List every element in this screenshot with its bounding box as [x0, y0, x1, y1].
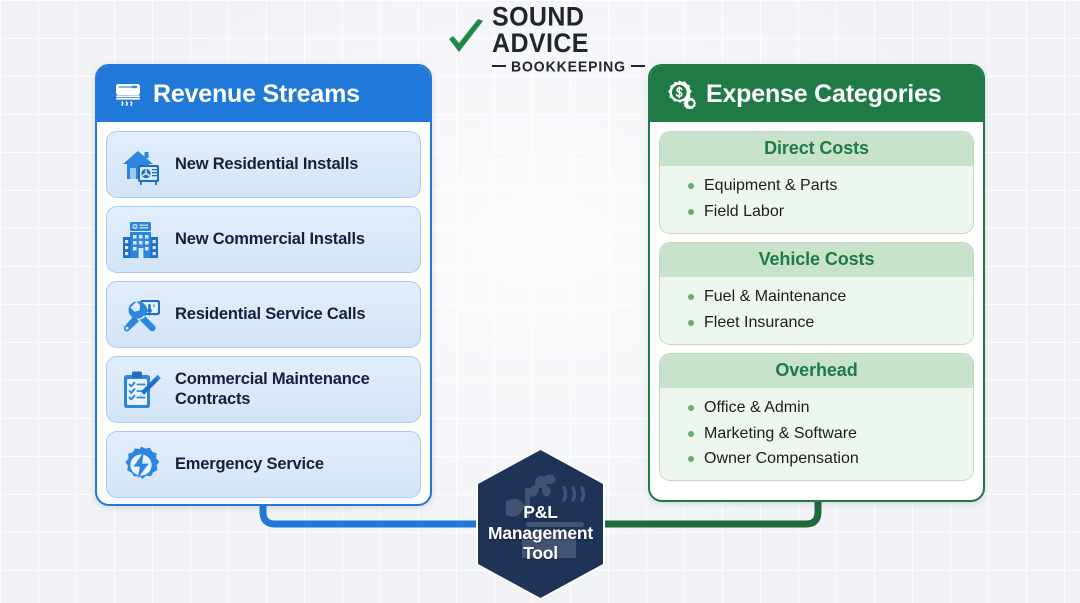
revenue-panel-body: New Residential Installs: [97, 122, 430, 506]
hexagon-label-line-2: Management: [488, 523, 593, 544]
expense-panel-body: Direct Costs Equipment & Parts Field Lab…: [650, 122, 983, 490]
revenue-item-label: Residential Service Calls: [175, 305, 365, 324]
expense-list-item: Owner Compensation: [688, 446, 973, 472]
expense-group-title: Overhead: [660, 354, 973, 388]
revenue-item-commercial-maintenance-contracts[interactable]: Commercial Maintenance Contracts: [106, 356, 421, 423]
hvac-ac-unit-icon: [113, 79, 143, 109]
expense-categories-panel: Expense Categories Direct Costs Equipmen…: [648, 64, 985, 502]
green-checkmark-icon: [447, 19, 485, 59]
revenue-streams-panel: Revenue Streams New Residential Installs: [95, 64, 432, 506]
revenue-item-label: New Commercial Installs: [175, 230, 365, 249]
expense-group-title: Vehicle Costs: [660, 243, 973, 277]
hexagon-label-line-3: Tool: [523, 543, 558, 564]
expense-panel-title: Expense Categories: [706, 82, 941, 107]
expense-group-direct-costs[interactable]: Direct Costs Equipment & Parts Field Lab…: [659, 131, 974, 234]
expense-list-item: Marketing & Software: [688, 421, 973, 447]
expense-group-list: Equipment & Parts Field Labor: [660, 166, 973, 233]
expense-list-item: Office & Admin: [688, 395, 973, 421]
expense-group-list: Fuel & Maintenance Fleet Insurance: [660, 277, 973, 344]
logo-rule-left: [492, 65, 506, 67]
brand-logo: SOUND ADVICE BOOKKEEPING: [447, 14, 642, 64]
expense-group-title: Direct Costs: [660, 132, 973, 166]
logo-rule-right: [631, 65, 645, 67]
wrench-and-thermostat-icon: [119, 293, 163, 337]
expense-panel-header: Expense Categories: [650, 66, 983, 122]
expense-list-item: Fuel & Maintenance: [688, 284, 973, 310]
gear-with-lightning-bolt-icon: [119, 443, 163, 487]
logo-line-1: SOUND ADVICE: [492, 4, 645, 57]
revenue-panel-header: Revenue Streams: [97, 66, 430, 122]
logo-line-2-row: BOOKKEEPING: [492, 59, 645, 73]
revenue-item-emergency-service[interactable]: Emergency Service: [106, 431, 421, 498]
revenue-item-label: Emergency Service: [175, 455, 324, 474]
revenue-panel-title: Revenue Streams: [153, 82, 360, 107]
revenue-item-new-residential-installs[interactable]: New Residential Installs: [106, 131, 421, 198]
revenue-item-label: New Residential Installs: [175, 155, 358, 174]
expense-list-item: Equipment & Parts: [688, 173, 973, 199]
clipboard-checklist-pencil-icon: [119, 368, 163, 412]
expense-group-vehicle-costs[interactable]: Vehicle Costs Fuel & Maintenance Fleet I…: [659, 242, 974, 345]
expense-list-item: Field Labor: [688, 199, 973, 225]
revenue-item-new-commercial-installs[interactable]: New Commercial Installs: [106, 206, 421, 273]
pl-management-tool-badge[interactable]: P&L Management Tool: [468, 446, 613, 602]
logo-line-2: BOOKKEEPING: [511, 58, 626, 73]
hexagon-label-line-1: P&L: [523, 502, 557, 523]
expense-group-overhead[interactable]: Overhead Office & Admin Marketing & Soft…: [659, 353, 974, 482]
revenue-item-residential-service-calls[interactable]: Residential Service Calls: [106, 281, 421, 348]
logo-text: SOUND ADVICE BOOKKEEPING: [492, 6, 645, 73]
revenue-item-label: Commercial Maintenance Contracts: [175, 370, 410, 409]
gear-with-dollar-sign-icon: [666, 79, 696, 109]
expense-group-list: Office & Admin Marketing & Software Owne…: [660, 388, 973, 481]
expense-list-item: Fleet Insurance: [688, 310, 973, 336]
hexagon-label: P&L Management Tool: [468, 446, 613, 602]
house-with-hvac-icon: [119, 143, 163, 187]
commercial-building-icon: [119, 218, 163, 262]
